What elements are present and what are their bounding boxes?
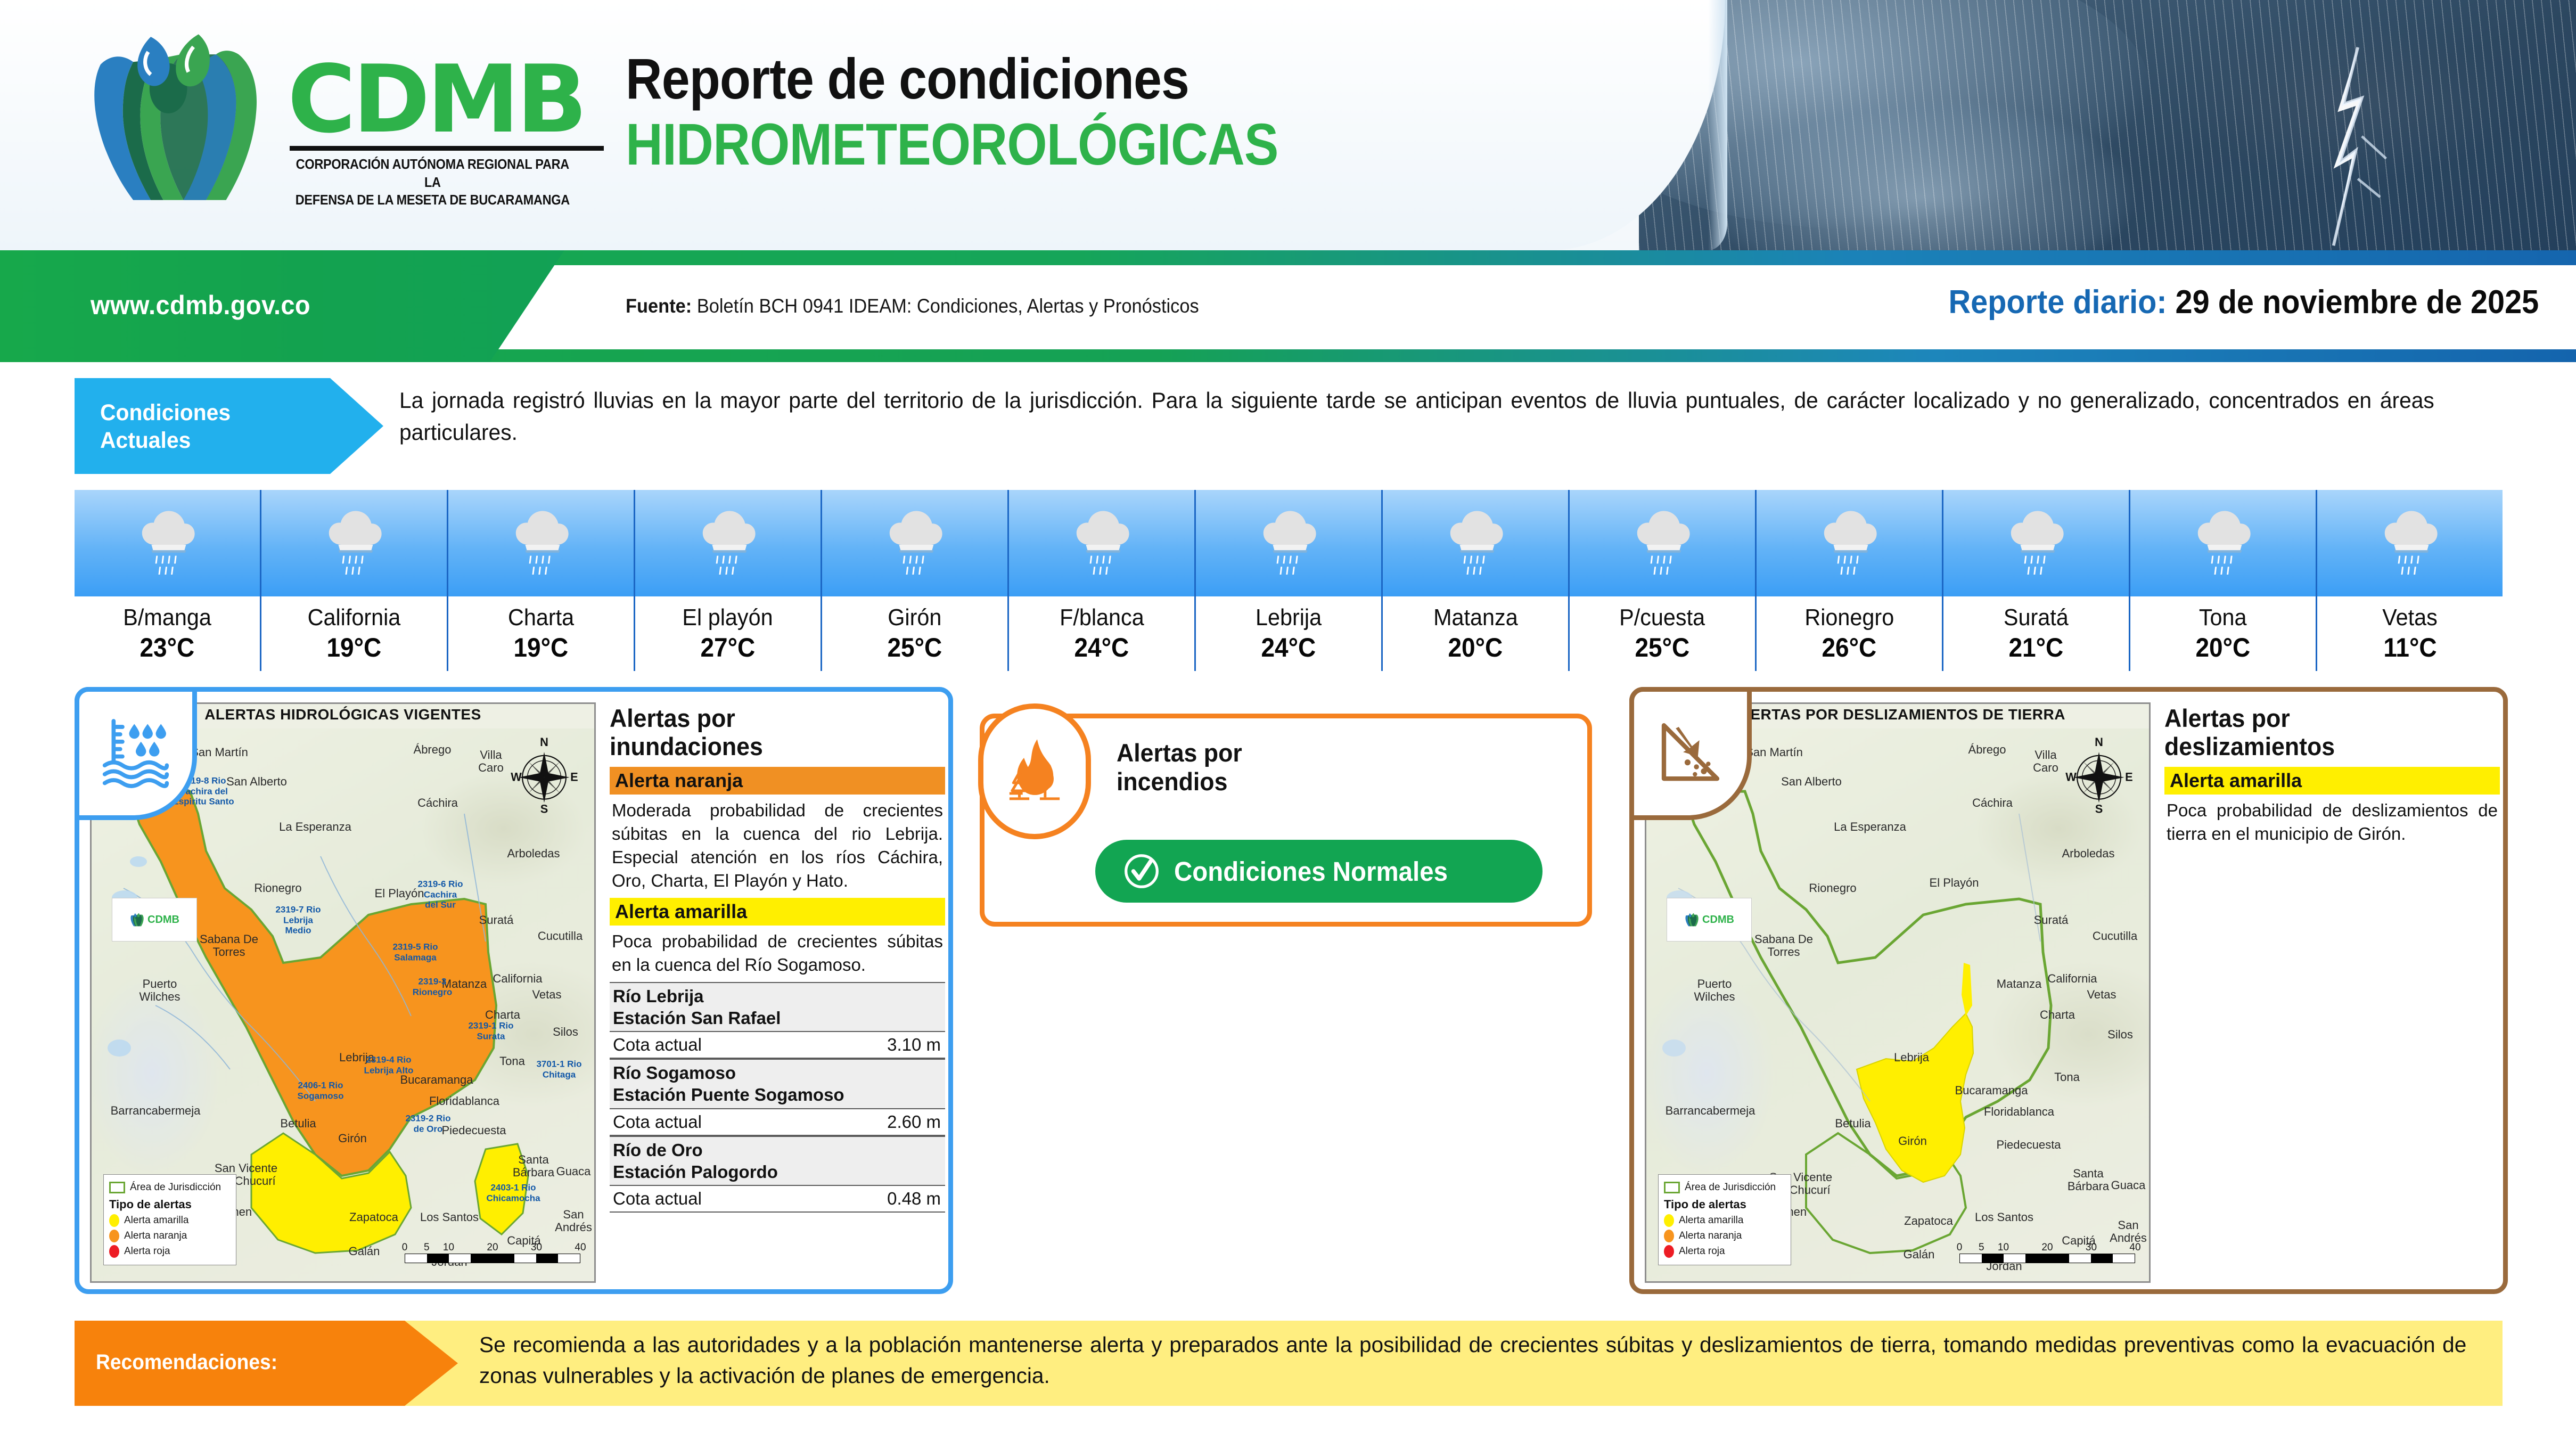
weather-info: Vetas11°C — [2317, 596, 2503, 671]
rain-cloud-icon — [2005, 503, 2068, 583]
website-url[interactable]: www.cdmb.gov.co — [91, 290, 310, 321]
weather-city-name: F/blanca — [1060, 604, 1144, 631]
station-row-3: Cota actual 0.48 m — [610, 1186, 945, 1213]
weather-cell: Rionegro26°C — [1757, 490, 1943, 671]
current-conditions-tag-line1: Condiciones — [100, 399, 231, 427]
fire-title-line2: incendios — [1117, 767, 1242, 796]
weather-icon-area — [1196, 490, 1381, 596]
map-city-label: Zapatoca — [1904, 1215, 1953, 1227]
weather-icon-area — [261, 490, 447, 596]
map-scale-ticks: 0 5 10 20 30 40 — [1959, 1242, 2135, 1254]
legend-dot-yellow — [1664, 1214, 1674, 1227]
station-value-3: 0.48 m — [887, 1189, 941, 1209]
weather-icon-area — [1757, 490, 1942, 596]
map-city-label: Piedecuesta — [441, 1124, 506, 1137]
logo-subtitle-line1: CORPORACIÓN AUTÓNOMA REGIONAL PARA LA — [288, 156, 578, 192]
map-city-label: Guaca — [2111, 1179, 2146, 1192]
station-name-2: Estación Puente Sogamoso — [613, 1084, 942, 1106]
weather-cell: California19°C — [261, 490, 448, 671]
map-legend: Área de Jurisdicción Tipo de alertas Ale… — [103, 1174, 236, 1265]
legend-jurisdiction-row: Área de Jurisdicción — [109, 1182, 231, 1193]
map-city-label: Ábrego — [414, 743, 452, 756]
legend-title: Tipo de alertas — [1664, 1198, 1785, 1211]
weather-city-name: California — [308, 604, 401, 631]
map-city-label: Sabana DeTorres — [200, 933, 258, 959]
map-city-label: Zapatoca — [349, 1211, 398, 1224]
legend-jurisdiction-label: Área de Jurisdicción — [130, 1182, 221, 1193]
map-basin-label: 2406-1 RioSogamoso — [298, 1080, 344, 1101]
weather-temperature: 11°C — [2383, 632, 2436, 663]
map-city-label: Lebrija — [1894, 1051, 1929, 1064]
weather-info: Girón25°C — [822, 596, 1007, 671]
legend-jurisdiction-label: Área de Jurisdicción — [1685, 1182, 1776, 1193]
weather-icon-area — [448, 490, 634, 596]
svg-text:N: N — [2095, 736, 2103, 749]
landslide-title-line2: deslizamientos — [2164, 733, 2483, 761]
scale-tick: 40 — [2129, 1242, 2140, 1254]
svg-text:S: S — [540, 803, 548, 816]
svg-text:S: S — [2095, 803, 2103, 816]
map-city-label: Cucutilla — [538, 930, 583, 943]
recommendations-section: Recomendaciones: Se recomienda a las aut… — [75, 1321, 2503, 1406]
scale-tick: 0 — [402, 1242, 408, 1254]
map-city-label: Barrancabermeja — [111, 1104, 201, 1117]
legend-item-orange: Alerta naranja — [109, 1230, 231, 1242]
scale-tick: 5 — [1979, 1242, 1984, 1254]
map-city-label: Guaca — [556, 1165, 591, 1178]
svg-text:W: W — [2065, 771, 2077, 784]
scale-tick: 30 — [531, 1242, 542, 1254]
legend-dot-red — [1664, 1245, 1674, 1258]
legend-label-orange: Alerta naranja — [1679, 1230, 1742, 1242]
legend-dot-orange — [1664, 1230, 1674, 1242]
map-city-label: Suratá — [2034, 914, 2069, 927]
map-scale-ticks: 0 5 10 20 30 40 — [405, 1242, 580, 1254]
map-basin-label: 2319-4 RioLebrija Alto — [364, 1054, 414, 1075]
logo-wordmark: CDMB — [288, 57, 612, 143]
rain-cloud-icon — [323, 503, 385, 583]
fire-badge — [978, 703, 1091, 839]
jurisdiction-swatch — [1664, 1182, 1680, 1193]
weather-cell: Charta19°C — [448, 490, 635, 671]
weather-info: P/cuesta25°C — [1570, 596, 1755, 671]
rain-cloud-icon — [136, 503, 199, 583]
map-city-label: Tona — [2054, 1071, 2080, 1084]
rain-cloud-icon — [696, 503, 759, 583]
rain-cloud-icon — [883, 503, 946, 583]
lightning-bolt-icon — [2299, 43, 2400, 250]
recommendations-tag-label: Recomendaciones: — [96, 1350, 277, 1374]
landslide-icon — [1653, 714, 1728, 793]
map-legend: Área de Jurisdicción Tipo de alertas Ale… — [1658, 1174, 1791, 1265]
map-city-label: La Esperanza — [1834, 821, 1906, 833]
weather-temperature: 23°C — [140, 632, 195, 663]
map-basin-label: 2319-1 RioSurata — [468, 1020, 513, 1041]
landslide-badge — [1629, 687, 1752, 820]
weather-temperature: 19°C — [327, 632, 382, 663]
flood-alert-orange-band: Alerta naranja — [610, 767, 945, 795]
weather-temperature: 24°C — [1261, 632, 1316, 663]
info-bar: www.cdmb.gov.co Fuente: Boletín BCH 0941… — [0, 250, 2576, 362]
weather-cell: B/manga23°C — [75, 490, 261, 671]
flood-title-line2: inundaciones — [610, 733, 929, 761]
weather-icon-area — [1570, 490, 1755, 596]
map-city-label: Girón — [338, 1132, 367, 1145]
map-city-label: Floridablanca — [1984, 1106, 2054, 1118]
map-scale-graphic — [405, 1254, 580, 1263]
weather-cell: P/cuesta25°C — [1570, 490, 1757, 671]
map-logo-text: CDMB — [1702, 914, 1734, 925]
scale-tick: 0 — [1957, 1242, 1963, 1254]
station-label-1: Cota actual — [613, 1035, 702, 1055]
source-value: Boletín BCH 0941 IDEAM: Condiciones, Ale… — [697, 295, 1199, 317]
source-text: Fuente: Boletín BCH 0941 IDEAM: Condicio… — [626, 295, 1199, 317]
rain-cloud-icon — [510, 503, 572, 583]
fire-status-text: Condiciones Normales — [1174, 856, 1448, 887]
map-city-label: Galán — [349, 1245, 380, 1258]
weather-info: Charta19°C — [448, 596, 634, 671]
station-river-3: Río de Oro — [613, 1139, 942, 1161]
fire-status-badge: Condiciones Normales — [1095, 840, 1543, 903]
weather-temperature: 24°C — [1074, 632, 1129, 663]
weather-city-name: Rionegro — [1804, 604, 1894, 631]
weather-temperature: 25°C — [888, 632, 942, 663]
svg-text:E: E — [2125, 771, 2133, 784]
weather-icon-area — [2317, 490, 2503, 596]
fire-forest-icon — [1002, 734, 1068, 809]
map-city-label: Vetas — [532, 988, 561, 1001]
flood-title: Alertas por inundaciones — [610, 705, 929, 760]
map-city-label: San Martín — [1745, 746, 1803, 759]
scale-tick: 40 — [575, 1242, 586, 1254]
station-label-2: Cota actual — [613, 1112, 702, 1132]
weather-cell: Lebrija24°C — [1196, 490, 1383, 671]
weather-city-name: Tona — [2199, 604, 2247, 631]
map-city-label: La Esperanza — [279, 821, 351, 833]
scale-tick: 20 — [487, 1242, 498, 1254]
title-line-2: HIDROMETEOROLÓGICAS — [626, 112, 1563, 177]
rain-cloud-icon — [2192, 503, 2254, 583]
map-scale-bar: 0 5 10 20 30 40 — [405, 1242, 580, 1263]
map-city-label: San Martín — [191, 746, 248, 759]
weather-city-name: Suratá — [2004, 604, 2069, 631]
station-label-3: Cota actual — [613, 1189, 702, 1209]
weather-temperature: 26°C — [1822, 632, 1877, 663]
weather-temperature: 25°C — [1635, 632, 1690, 663]
map-city-label: Los Santos — [1975, 1211, 2033, 1224]
weather-temperature: 20°C — [1448, 632, 1503, 663]
map-city-label: Silos — [2107, 1028, 2133, 1041]
weather-city-name: Girón — [888, 604, 941, 631]
legend-item-yellow: Alerta amarilla — [1664, 1214, 1785, 1227]
map-city-label: PuertoWilches — [139, 978, 180, 1003]
weather-icon-area — [635, 490, 821, 596]
map-city-label: El Playón — [1930, 877, 1979, 889]
map-city-label: Floridablanca — [429, 1095, 499, 1108]
compass-rose-icon: N S W E — [507, 736, 581, 816]
map-scale-graphic — [1959, 1254, 2135, 1263]
weather-info: Tona20°C — [2130, 596, 2316, 671]
weather-strip: B/manga23°C California19°C — [75, 490, 2503, 671]
current-conditions-tag-line2: Actuales — [100, 427, 231, 455]
weather-icon-area — [1943, 490, 2129, 596]
map-basin-label: 2319-2 Riode Oro — [405, 1113, 450, 1134]
map-city-label: VillaCaro — [2033, 749, 2058, 774]
map-city-label: California — [493, 972, 543, 985]
map-basin-label: 2319-5 RioSalamaga — [392, 942, 438, 962]
map-city-label: Charta — [2040, 1009, 2075, 1021]
map-city-label: California — [2048, 972, 2097, 985]
report-date-value: 29 de noviembre de 2025 — [2175, 284, 2539, 321]
check-circle-icon — [1122, 852, 1161, 891]
weather-icon-area — [2130, 490, 2316, 596]
weather-city-name: P/cuesta — [1620, 604, 1705, 631]
report-date: Reporte diario: 29 de noviembre de 2025 — [1948, 283, 2539, 321]
map-city-label: Tona — [499, 1055, 525, 1068]
weather-city-name: Matanza — [1433, 604, 1518, 631]
flood-alerts-panel: ALERTAS HIDROLÓGICAS VIGENTES — [75, 687, 953, 1294]
compass-rose-icon: N S W E — [2062, 736, 2136, 816]
cdmb-logo-mark-small — [1684, 911, 1700, 929]
map-city-label: Arboledas — [507, 847, 560, 860]
map-city-label: Ábrego — [1968, 743, 2006, 756]
weather-city-name: B/manga — [123, 604, 211, 631]
rain-cloud-icon — [1444, 503, 1507, 583]
legend-label-yellow: Alerta amarilla — [124, 1215, 188, 1226]
weather-info: Lebrija24°C — [1196, 596, 1381, 671]
weather-icon-area — [822, 490, 1007, 596]
legend-label-yellow: Alerta amarilla — [1679, 1215, 1743, 1226]
flood-alert-yellow-band: Alerta amarilla — [610, 898, 945, 926]
scale-tick: 20 — [2041, 1242, 2053, 1254]
weather-info: F/blanca24°C — [1009, 596, 1194, 671]
map-city-label: Rionegro — [1809, 882, 1856, 895]
source-label: Fuente: — [626, 295, 692, 317]
map-city-label: Bucaramanga — [1955, 1084, 2028, 1097]
map-city-label: Rionegro — [254, 882, 301, 895]
rain-cloud-icon — [1070, 503, 1133, 583]
map-city-label: SantaBárbara — [2068, 1167, 2109, 1193]
landslide-title: Alertas por deslizamientos — [2164, 705, 2483, 760]
map-basin-label: 2319-3Rionegro — [413, 976, 453, 997]
legend-dot-orange — [109, 1230, 119, 1242]
weather-info: Suratá21°C — [1943, 596, 2129, 671]
map-city-label: Galán — [1904, 1248, 1935, 1261]
weather-temperature: 20°C — [2196, 632, 2251, 663]
map-city-label: Sabana DeTorres — [1754, 933, 1813, 959]
page-title: Reporte de condiciones HIDROMETEOROLÓGIC… — [626, 48, 1691, 177]
cdmb-logo-mark — [75, 29, 282, 205]
legend-title: Tipo de alertas — [109, 1198, 231, 1211]
map-cdmb-logo: CDMB — [112, 898, 197, 942]
station-name-1: Estación San Rafael — [613, 1007, 942, 1029]
map-city-label: Vetas — [2087, 988, 2116, 1001]
map-city-label: Girón — [1898, 1135, 1927, 1148]
rain-cloud-icon — [2378, 503, 2441, 583]
map-city-label: Betulia — [280, 1117, 316, 1130]
rain-streaks — [1639, 0, 2576, 250]
map-basin-label: 2319-6 RioCachiradel Sur — [417, 879, 463, 911]
legend-label-red: Alerta roja — [124, 1246, 170, 1257]
rain-cloud-icon — [1257, 503, 1320, 583]
station-river-1: Río Lebrija — [613, 985, 942, 1007]
flood-alert-yellow-text: Poca probabilidad de crecientes súbitas … — [610, 926, 945, 982]
legend-jurisdiction-row: Área de Jurisdicción — [1664, 1182, 1785, 1193]
map-city-label: SanAndrés — [555, 1208, 592, 1234]
weather-city-name: El playón — [683, 604, 773, 631]
map-city-label: Cáchira — [417, 797, 458, 809]
legend-dot-red — [109, 1245, 119, 1258]
cdmb-logo-mark-small — [129, 911, 145, 929]
map-city-label: Betulia — [1835, 1117, 1871, 1130]
scale-tick: 30 — [2086, 1242, 2097, 1254]
station-value-1: 3.10 m — [887, 1035, 941, 1055]
current-conditions-tag: Condiciones Actuales — [75, 378, 383, 474]
legend-item-red: Alerta roja — [109, 1245, 231, 1258]
map-city-label: Barrancabermeja — [1666, 1104, 1755, 1117]
legend-label-red: Alerta roja — [1679, 1246, 1725, 1257]
landslide-map-canvas: San Martín Ábrego VillaCaro San Alberto … — [1646, 728, 2149, 1283]
recommendations-text: Se recomienda a las autoridades y a la p… — [479, 1329, 2466, 1391]
map-city-label: Cucutilla — [2093, 930, 2137, 943]
weather-info: California19°C — [261, 596, 447, 671]
legend-item-red: Alerta roja — [1664, 1245, 1785, 1258]
legend-item-yellow: Alerta amarilla — [109, 1214, 231, 1227]
map-city-label: PuertoWilches — [1694, 978, 1735, 1003]
title-line-1: Reporte de condiciones — [626, 48, 1563, 110]
station-header-2: Río Sogamoso Estación Puente Sogamoso — [610, 1059, 945, 1109]
station-name-3: Estación Palogordo — [613, 1161, 942, 1183]
map-city-label: Matanza — [1997, 978, 2041, 990]
map-basin-label: 3701-1 RioChitaga — [536, 1059, 581, 1079]
weather-city-name: Charta — [508, 604, 574, 631]
station-value-2: 2.60 m — [887, 1112, 941, 1132]
weather-info: Rionegro26°C — [1757, 596, 1942, 671]
weather-icon-area — [1009, 490, 1194, 596]
map-city-label: San Alberto — [1781, 775, 1842, 788]
weather-icon-area — [1383, 490, 1568, 596]
weather-cell: Vetas11°C — [2317, 490, 2503, 671]
flood-alert-orange-text: Moderada probabilidad de crecientes súbi… — [610, 795, 945, 898]
weather-cell: El playón27°C — [635, 490, 822, 671]
weather-cell: Tona20°C — [2130, 490, 2317, 671]
rain-cloud-icon — [1631, 503, 1694, 583]
alert-panels-row: ALERTAS HIDROLÓGICAS VIGENTES — [0, 682, 2576, 1305]
scale-tick: 5 — [424, 1242, 430, 1254]
station-header-1: Río Lebrija Estación San Rafael — [610, 982, 945, 1033]
weather-cell: F/blanca24°C — [1009, 490, 1196, 671]
map-city-label: El Playón — [375, 887, 424, 900]
map-city-label: VillaCaro — [478, 749, 504, 774]
scale-tick: 10 — [443, 1242, 454, 1254]
legend-item-orange: Alerta naranja — [1664, 1230, 1785, 1242]
map-city-label: SantaBárbara — [513, 1153, 554, 1179]
flood-title-line1: Alertas por — [610, 705, 929, 733]
station-row-2: Cota actual 2.60 m — [610, 1109, 945, 1136]
station-river-2: Río Sogamoso — [613, 1062, 942, 1084]
page-header: CDMB CORPORACIÓN AUTÓNOMA REGIONAL PARA … — [0, 0, 2576, 250]
map-city-label: Los Santos — [420, 1211, 479, 1224]
svg-text:N: N — [540, 736, 548, 749]
weather-city-name: Lebrija — [1256, 604, 1322, 631]
weather-info: B/manga23°C — [75, 596, 260, 671]
legend-label-orange: Alerta naranja — [124, 1230, 187, 1242]
rain-cloud-icon — [1818, 503, 1881, 583]
current-conditions-section: Condiciones Actuales La jornada registró… — [75, 378, 2503, 474]
map-basin-label: 2319-7 RioLebrijaMedio — [275, 905, 321, 936]
svg-text:W: W — [511, 771, 522, 784]
landslide-alert-yellow-band: Alerta amarilla — [2164, 767, 2500, 795]
map-city-label: Charta — [485, 1009, 520, 1021]
storm-photo — [1639, 0, 2576, 250]
map-city-label: Arboledas — [2062, 847, 2114, 860]
cdmb-logo: CDMB CORPORACIÓN AUTÓNOMA REGIONAL PARA … — [75, 29, 612, 210]
weather-cell: Matanza20°C — [1383, 490, 1570, 671]
weather-cell: Suratá21°C — [1943, 490, 2130, 671]
weather-info: Matanza20°C — [1383, 596, 1568, 671]
jurisdiction-swatch — [109, 1182, 125, 1193]
map-city-label: Suratá — [479, 914, 514, 927]
flood-badge — [75, 687, 197, 820]
weather-city-name: Vetas — [2382, 604, 2437, 631]
report-date-label: Reporte diario: — [1948, 284, 2167, 321]
scale-tick: 10 — [1998, 1242, 2009, 1254]
fire-title: Alertas por incendios — [1117, 739, 1242, 796]
landslide-title-line1: Alertas por — [2164, 705, 2483, 733]
map-city-label: SanAndrés — [2110, 1219, 2147, 1245]
map-cdmb-logo: CDMB — [1667, 898, 1752, 942]
legend-dot-yellow — [109, 1214, 119, 1227]
flood-alert-column: Alertas por inundaciones Alerta naranja … — [610, 705, 945, 1213]
logo-subtitle-line2: DEFENSA DE LA MESETA DE BUCARAMANGA — [288, 192, 578, 210]
water-level-gauge-icon — [99, 714, 173, 793]
map-logo-text: CDMB — [147, 914, 179, 925]
map-scale-bar: 0 5 10 20 30 40 — [1959, 1242, 2135, 1263]
weather-cell: Girón25°C — [822, 490, 1009, 671]
landslide-alerts-panel: ALERTAS POR DESLIZAMIENTOS DE TIERRA — [1629, 687, 2508, 1294]
weather-temperature: 27°C — [701, 632, 756, 663]
weather-temperature: 21°C — [2009, 632, 2064, 663]
map-city-label: Silos — [553, 1026, 578, 1038]
map-city-label: San Alberto — [226, 775, 287, 788]
svg-text:E: E — [570, 771, 578, 784]
map-city-label: Piedecuesta — [1996, 1139, 2061, 1151]
fire-title-line1: Alertas por — [1117, 739, 1242, 767]
map-city-label: Cáchira — [1972, 797, 2013, 809]
station-header-3: Río de Oro Estación Palogordo — [610, 1136, 945, 1186]
weather-icon-area — [75, 490, 260, 596]
fire-alerts-panel: Alertas por incendios Condiciones Normal… — [980, 714, 1592, 927]
landslide-alert-column: Alertas por deslizamientos Alerta amaril… — [2164, 705, 2500, 851]
hydrological-map-canvas: San Martín Ábrego VillaCaro San Alberto … — [92, 728, 594, 1283]
recommendations-tag: Recomendaciones: — [75, 1321, 458, 1406]
current-conditions-text: La jornada registró lluvias en la mayor … — [399, 384, 2434, 448]
map-basin-label: 2403-1 RioChicamocha — [486, 1182, 540, 1203]
station-row-1: Cota actual 3.10 m — [610, 1032, 945, 1059]
weather-info: El playón27°C — [635, 596, 821, 671]
landslide-alert-yellow-text: Poca probabilidad de deslizamientos de t… — [2164, 795, 2500, 851]
weather-temperature: 19°C — [514, 632, 569, 663]
